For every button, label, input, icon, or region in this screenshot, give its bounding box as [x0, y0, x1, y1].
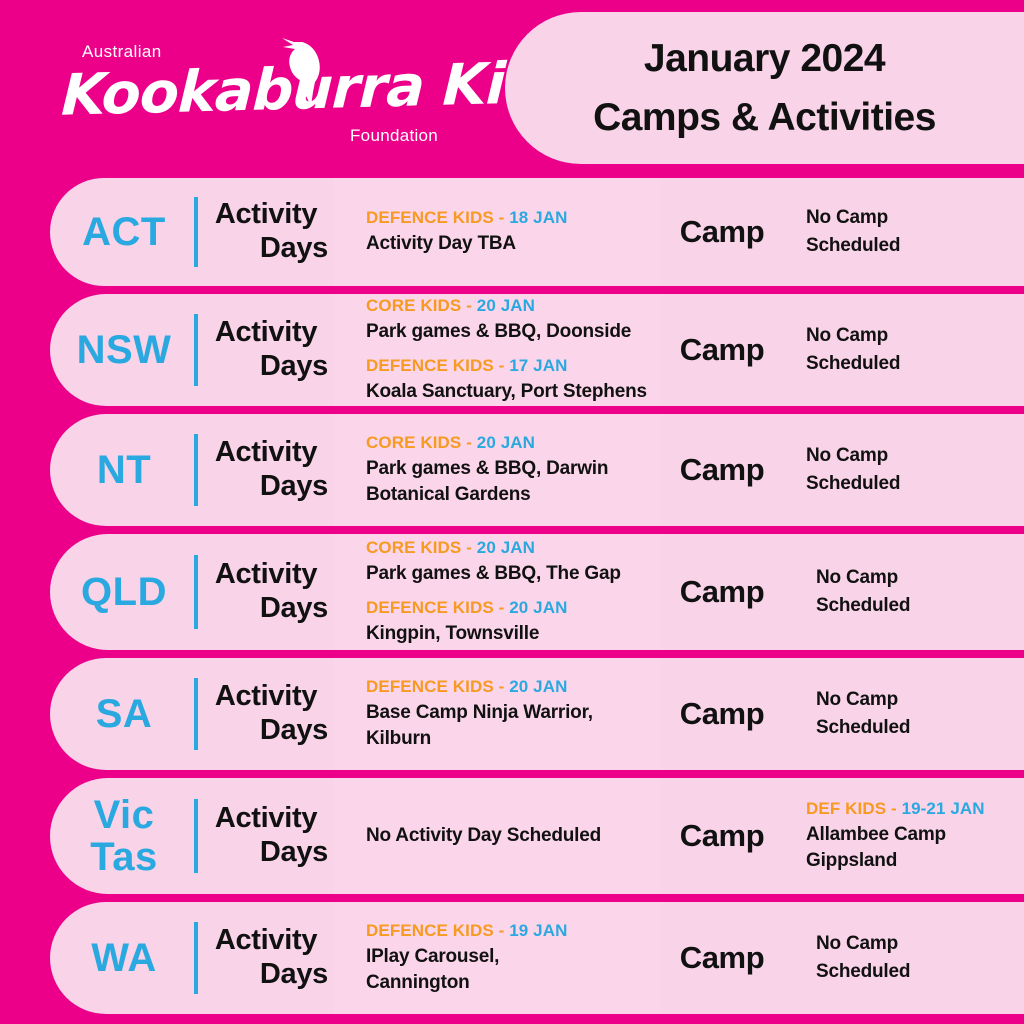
state-code: WA [91, 937, 156, 979]
activity-event-heading: CORE KIDS - 20 JAN [366, 296, 650, 316]
activity-location: IPlay Carousel, Cannington [366, 944, 650, 995]
activity-location: Koala Sanctuary, Port Stephens [366, 379, 650, 405]
activity-date: 19 JAN [509, 921, 567, 940]
camp-event-heading: DEF KIDS - 19-21 JAN [806, 799, 1016, 819]
state-code: NT [97, 449, 151, 491]
activity-program-name: DEFENCE KIDS [366, 208, 494, 227]
activity-label-line2: Days [260, 958, 334, 992]
state-cell: SA [50, 658, 198, 770]
camp-label: Camp [680, 452, 765, 488]
activity-event-heading: DEFENCE KIDS - 20 JAN [366, 598, 650, 618]
activity-label-line2: Days [260, 232, 334, 266]
activity-label-line1: Activity [215, 198, 317, 232]
activity-label-line2: Days [260, 470, 334, 504]
activity-dash: - [499, 208, 505, 227]
activity-event-heading: DEFENCE KIDS - 18 JAN [366, 208, 650, 228]
activity-label-line1: Activity [215, 316, 317, 350]
camp-label: Camp [680, 574, 765, 610]
activity-location: Park games & BBQ, Darwin Botanical Garde… [366, 456, 650, 507]
activity-label-line2: Days [260, 836, 334, 870]
activity-date: 20 JAN [477, 538, 535, 557]
camp-detail-cell: No Camp Scheduled [784, 414, 1024, 526]
activity-detail-cell: CORE KIDS - 20 JAN Park games & BBQ, The… [334, 534, 660, 650]
activity-date: 20 JAN [477, 433, 535, 452]
camp-label-cell: Camp [660, 534, 784, 650]
camp-label: Camp [680, 696, 765, 732]
state-cell: ACT [50, 178, 198, 286]
kookaburra-kids-logo: Australian Kookaburra Kids Foundation [62, 34, 462, 146]
camp-label: Camp [680, 214, 765, 250]
state-code: NSW [77, 329, 172, 371]
kookaburra-bird-icon [280, 36, 324, 106]
row-spacer [0, 770, 1024, 778]
header-title-panel: January 2024 Camps & Activities [505, 12, 1024, 164]
state-code: Vic Tas [90, 794, 157, 878]
camp-detail-cell: No Camp Scheduled [784, 294, 1024, 406]
table-row[interactable]: Vic Tas Activity Days No Activity Day Sc… [50, 778, 1024, 894]
table-row[interactable]: ACT Activity Days DEFENCE KIDS - 18 JAN … [50, 178, 1024, 286]
activity-dash: - [499, 921, 505, 940]
activity-dash: - [499, 598, 505, 617]
camp-label-cell: Camp [660, 294, 784, 406]
column-divider [194, 314, 198, 386]
column-divider [194, 922, 198, 994]
camp-status: No Camp Scheduled [816, 686, 1016, 741]
activity-program-name: DEFENCE KIDS [366, 677, 494, 696]
activity-detail-cell: CORE KIDS - 20 JAN Park games & BBQ, Doo… [334, 294, 660, 406]
activity-event-heading: CORE KIDS - 20 JAN [366, 433, 650, 453]
state-code: SA [96, 693, 153, 735]
state-cell: WA [50, 902, 198, 1014]
table-row[interactable]: NT Activity Days CORE KIDS - 20 JAN Park… [50, 414, 1024, 526]
activity-dash: - [499, 677, 505, 696]
logo-tagline-bottom: Foundation [350, 126, 438, 146]
camp-status: No Camp Scheduled [806, 322, 1016, 377]
schedule-rows: ACT Activity Days DEFENCE KIDS - 18 JAN … [0, 178, 1024, 1014]
camp-label-cell: Camp [660, 414, 784, 526]
activity-location: Base Camp Ninja Warrior, Kilburn [366, 700, 650, 751]
camp-dash: - [891, 799, 897, 818]
activity-label-line2: Days [260, 350, 334, 384]
camp-detail-cell: DEF KIDS - 19-21 JAN Allambee Camp Gipps… [784, 778, 1024, 894]
activity-detail-cell: DEFENCE KIDS - 20 JAN Base Camp Ninja Wa… [334, 658, 660, 770]
state-code: ACT [82, 211, 166, 253]
activity-days-label: Activity Days [198, 178, 334, 286]
activity-spacer [366, 589, 650, 596]
header-title-line2: Camps & Activities [593, 90, 936, 145]
activity-program-name: DEFENCE KIDS [366, 356, 494, 375]
activity-label-line1: Activity [215, 436, 317, 470]
header-title-line1: January 2024 [644, 31, 885, 86]
camp-label: Camp [680, 940, 765, 976]
state-cell: NT [50, 414, 198, 526]
row-spacer [0, 650, 1024, 658]
activity-date: 18 JAN [509, 208, 567, 227]
camp-detail-cell: No Camp Scheduled [784, 534, 1024, 650]
activity-detail-cell: DEFENCE KIDS - 18 JAN Activity Day TBA [334, 178, 660, 286]
camp-status: No Camp Scheduled [816, 564, 1016, 619]
activity-days-label: Activity Days [198, 534, 334, 650]
table-row[interactable]: QLD Activity Days CORE KIDS - 20 JAN Par… [50, 534, 1024, 650]
activity-spacer [366, 347, 650, 354]
activity-days-label: Activity Days [198, 778, 334, 894]
activity-location: Activity Day TBA [366, 231, 650, 257]
row-spacer [0, 894, 1024, 902]
activity-program-name: DEFENCE KIDS [366, 598, 494, 617]
camp-detail-cell: No Camp Scheduled [784, 902, 1024, 1014]
camp-detail-cell: No Camp Scheduled [784, 658, 1024, 770]
camp-date: 19-21 JAN [902, 799, 985, 818]
table-row[interactable]: NSW Activity Days CORE KIDS - 20 JAN Par… [50, 294, 1024, 406]
page-header: Australian Kookaburra Kids Foundation Ja… [0, 0, 1024, 172]
camp-label-cell: Camp [660, 658, 784, 770]
activity-label-line1: Activity [215, 680, 317, 714]
activity-dash: - [466, 296, 472, 315]
state-code: QLD [81, 571, 167, 613]
state-cell: QLD [50, 534, 198, 650]
activity-date: 17 JAN [509, 356, 567, 375]
camp-program-name: DEF KIDS [806, 799, 886, 818]
activity-location: Park games & BBQ, The Gap [366, 561, 650, 587]
camp-status: No Camp Scheduled [806, 442, 1016, 497]
activity-dash: - [466, 433, 472, 452]
activity-detail-cell: CORE KIDS - 20 JAN Park games & BBQ, Dar… [334, 414, 660, 526]
column-divider [194, 799, 198, 873]
column-divider [194, 678, 198, 750]
activity-days-label: Activity Days [198, 902, 334, 1014]
row-spacer [0, 526, 1024, 534]
activity-dash: - [466, 538, 472, 557]
table-row[interactable]: SA Activity Days DEFENCE KIDS - 20 JAN B… [50, 658, 1024, 770]
activity-label-line1: Activity [215, 802, 317, 836]
camp-status: No Camp Scheduled [816, 930, 1016, 985]
activity-event-heading: CORE KIDS - 20 JAN [366, 538, 650, 558]
activity-location: Kingpin, Townsville [366, 621, 650, 647]
activity-event-heading: DEFENCE KIDS - 17 JAN [366, 356, 650, 376]
activity-program-name: CORE KIDS [366, 296, 461, 315]
activity-label-line1: Activity [215, 558, 317, 592]
logo-tagline-top: Australian [82, 42, 162, 62]
activity-program-name: DEFENCE KIDS [366, 921, 494, 940]
activity-program-name: CORE KIDS [366, 538, 461, 557]
column-divider [194, 197, 198, 266]
camp-label: Camp [680, 332, 765, 368]
camp-label-cell: Camp [660, 902, 784, 1014]
activity-days-label: Activity Days [198, 658, 334, 770]
activity-date: 20 JAN [509, 677, 567, 696]
row-spacer [0, 406, 1024, 414]
column-divider [194, 555, 198, 629]
state-cell: NSW [50, 294, 198, 406]
row-spacer [0, 286, 1024, 294]
activity-event-heading: DEFENCE KIDS - 20 JAN [366, 677, 650, 697]
activity-location: Park games & BBQ, Doonside [366, 319, 650, 345]
activity-label-line2: Days [260, 714, 334, 748]
activity-detail-cell: No Activity Day Scheduled [334, 778, 660, 894]
activity-status: No Activity Day Scheduled [366, 825, 650, 847]
activity-detail-cell: DEFENCE KIDS - 19 JAN IPlay Carousel, Ca… [334, 902, 660, 1014]
activity-label-line2: Days [260, 592, 334, 626]
activity-days-label: Activity Days [198, 294, 334, 406]
activity-dash: - [499, 356, 505, 375]
table-row[interactable]: WA Activity Days DEFENCE KIDS - 19 JAN I… [50, 902, 1024, 1014]
activity-date: 20 JAN [477, 296, 535, 315]
camp-label-cell: Camp [660, 778, 784, 894]
activity-event-heading: DEFENCE KIDS - 19 JAN [366, 921, 650, 941]
state-cell: Vic Tas [50, 778, 198, 894]
column-divider [194, 434, 198, 506]
camp-label: Camp [680, 818, 765, 854]
camp-status: No Camp Scheduled [806, 204, 1016, 259]
activity-program-name: CORE KIDS [366, 433, 461, 452]
activity-days-label: Activity Days [198, 414, 334, 526]
camp-detail-cell: No Camp Scheduled [784, 178, 1024, 286]
camp-location: Allambee Camp Gippsland [806, 822, 1016, 873]
activity-label-line1: Activity [215, 924, 317, 958]
camp-label-cell: Camp [660, 178, 784, 286]
activity-date: 20 JAN [509, 598, 567, 617]
